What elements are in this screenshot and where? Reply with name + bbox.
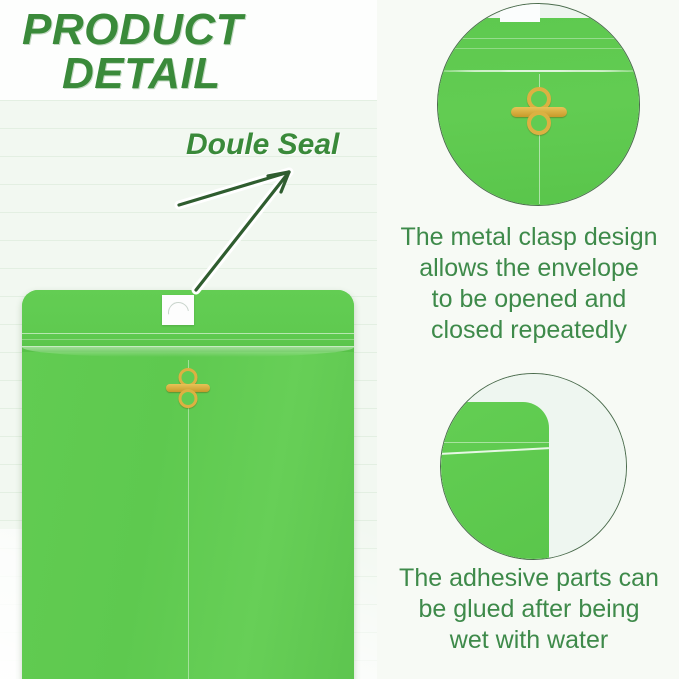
paper-rule-line [0,100,377,101]
caption-clasp-line-2: allows the envelope [383,253,675,284]
caption-adhesive-line-3: wet with water [383,625,675,656]
caption-clasp-line-3: to be opened and [383,284,675,315]
clasp-envelope [22,290,354,679]
inset2-envelope-corner [441,402,549,560]
inset-clasp-closeup [437,3,640,206]
caption-adhesive: The adhesive parts can be glued after be… [383,563,675,656]
paper-rule-line [0,212,377,213]
inset1-seam-a [438,38,639,39]
paper-rule-line [0,240,377,241]
caption-adhesive-line-1: The adhesive parts can [383,563,675,594]
caption-clasp: The metal clasp design allows the envelo… [383,222,675,346]
envelope-metal-clasp-icon [166,368,210,408]
title-line-1: PRODUCT [22,8,243,52]
envelope-white-tab-icon [162,295,194,325]
inset1-clasp-ring-bottom [527,111,551,135]
title-line-2: DETAIL [62,52,221,96]
envelope-flap-seam-top [22,333,354,334]
doule-seal-label: Doule Seal [186,130,339,160]
inset1-metal-clasp-icon [511,87,567,135]
product-detail-image: PRODUCT DETAIL Doule Seal [0,0,679,679]
caption-clasp-line-4: closed repeatedly [383,315,675,346]
paper-rule-line [0,268,377,269]
inset2-seam-upper [441,442,549,443]
page-title: PRODUCT DETAIL [0,0,420,100]
clasp-ring-bottom [179,389,198,408]
inset-adhesive-closeup [440,373,627,560]
lined-paper-panel [0,100,378,679]
inset1-flap-line [438,70,639,72]
caption-adhesive-line-2: be glued after being [383,594,675,625]
envelope-flap-seam-lower [22,339,354,340]
caption-clasp-line-1: The metal clasp design [383,222,675,253]
paper-rule-line [0,184,377,185]
inset1-seam-b [438,48,639,49]
inset1-white-tab-icon [500,4,540,22]
